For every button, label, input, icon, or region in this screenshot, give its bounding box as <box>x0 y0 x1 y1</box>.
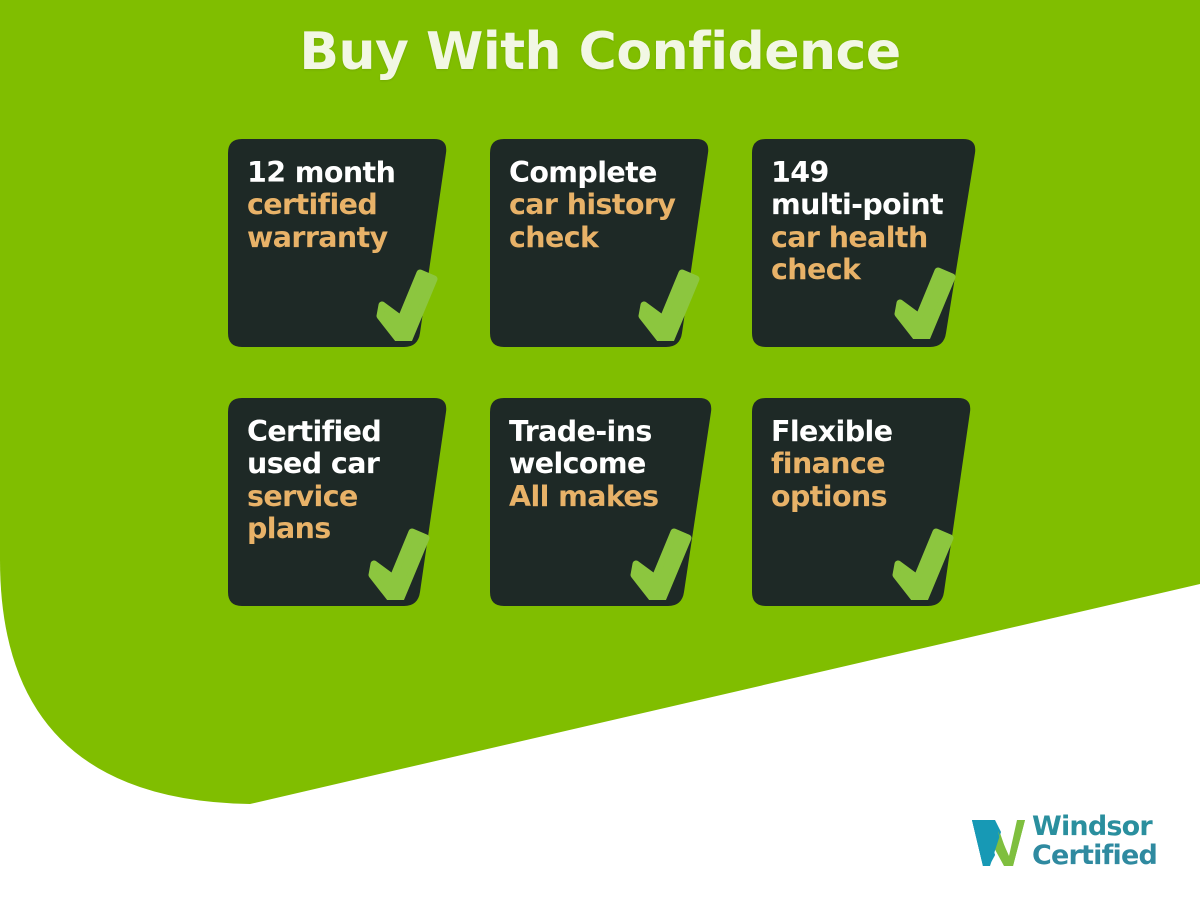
card-text-block: Certified used car service plans <box>247 416 443 545</box>
card-line-amber-1: options <box>771 481 967 513</box>
card-line-white-1: used car <box>247 448 443 480</box>
benefit-card-flexible-finance-options[interactable]: Flexible finance options <box>752 398 1000 606</box>
card-line-white-0: 149 <box>771 157 967 189</box>
card-text-block: Complete car history check <box>509 157 705 254</box>
card-line-amber-0: All makes <box>509 481 705 513</box>
benefit-card-149-multi-point-car-health-check[interactable]: 149 multi-point car health check <box>752 139 1000 347</box>
benefit-card-twelve-month-certified-warranty[interactable]: 12 month certified warranty <box>228 139 476 347</box>
card-line-white-0: Certified <box>247 416 443 448</box>
card-line-white-0: Complete <box>509 157 705 189</box>
card-line-amber-0: finance <box>771 448 967 480</box>
card-line-amber-1: warranty <box>247 222 443 254</box>
card-line-amber-0: service <box>247 481 443 513</box>
benefit-card-trade-ins-welcome-all-makes[interactable]: Trade-ins welcome All makes <box>490 398 738 606</box>
check-icon <box>638 269 700 341</box>
card-line-white-0: Trade-ins <box>509 416 705 448</box>
card-line-white-0: 12 month <box>247 157 443 189</box>
card-text-block: 12 month certified warranty <box>247 157 443 254</box>
card-text-block: Trade-ins welcome All makes <box>509 416 705 513</box>
windsor-certified-logo[interactable]: Windsor Certified <box>968 812 1158 876</box>
check-icon <box>892 528 954 600</box>
card-line-white-1: multi-point <box>771 189 967 221</box>
check-icon <box>630 528 692 600</box>
promo-banner: Buy With Confidence 12 month certified w… <box>0 0 1200 900</box>
logo-line-2: Certified <box>1032 841 1160 870</box>
check-icon <box>894 267 956 339</box>
card-line-amber-1: check <box>509 222 705 254</box>
card-line-white-0: Flexible <box>771 416 967 448</box>
card-line-amber-0: car history <box>509 189 705 221</box>
card-line-amber-0: car health <box>771 222 967 254</box>
check-icon <box>368 528 430 600</box>
card-line-white-1: welcome <box>509 448 705 480</box>
logo-wordmark: Windsor Certified <box>1032 812 1160 870</box>
benefit-card-certified-used-car-service-plans[interactable]: Certified used car service plans <box>228 398 476 606</box>
card-text-block: Flexible finance options <box>771 416 967 513</box>
benefit-card-grid: 12 month certified warranty Complete car… <box>0 0 1200 900</box>
benefit-card-complete-car-history-check[interactable]: Complete car history check <box>490 139 738 347</box>
card-line-amber-0: certified <box>247 189 443 221</box>
check-icon <box>376 269 438 341</box>
logo-line-1: Windsor <box>1032 811 1152 842</box>
windsor-w-icon <box>968 814 1026 870</box>
